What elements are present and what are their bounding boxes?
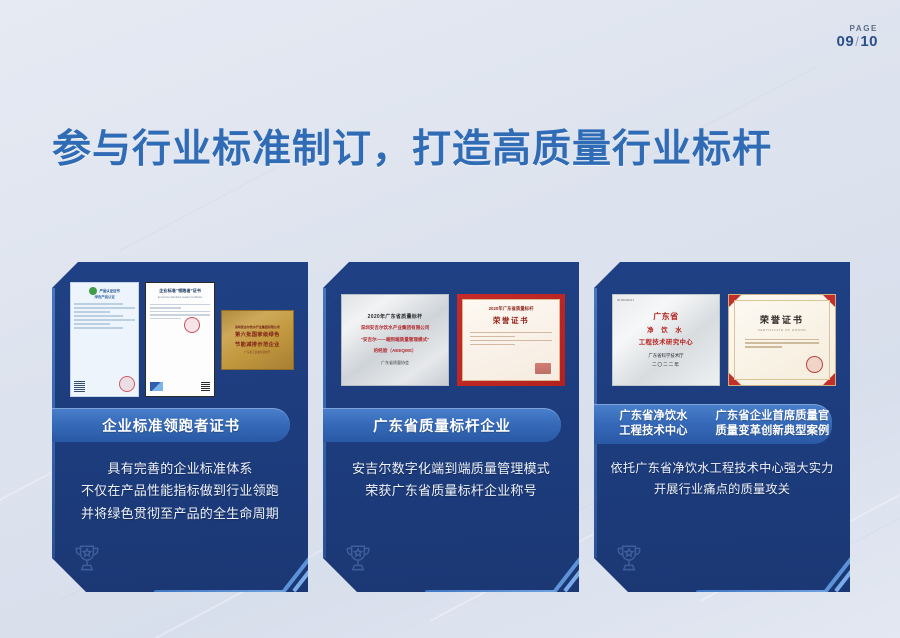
plaque-line-3: 工程技术研究中心 — [639, 337, 693, 346]
slide: PAGE 09/10 参与行业标准制订，打造高质量行业标杆 产品认证证书 绿色产… — [0, 0, 900, 638]
page-number: 09/10 — [837, 33, 879, 50]
plaque-id: ID:20220217 — [617, 298, 634, 302]
card-label-right-line: 质量变革创新典型案例 — [716, 424, 830, 439]
plaque-line-2: 净 饮 水 — [647, 325, 685, 334]
plaque-image-research-center[interactable]: ID:20220217 广东省 净 饮 水 工程技术研究中心 广东省科学技术厅 … — [612, 294, 720, 386]
card-water-purification-research-center[interactable]: ID:20220217 广东省 净 饮 水 工程技术研究中心 广东省科学技术厅 … — [594, 262, 850, 592]
leaf-icon — [89, 287, 97, 295]
certificate-line-1: 荣誉证书 — [760, 313, 804, 326]
trophy-icon — [341, 542, 375, 576]
card-provincial-quality-benchmark[interactable]: 2020年广东省质量标杆 深圳安吉尔饮水产业集团有限公司 “安吉尔——端到端质量… — [323, 262, 579, 592]
card-label: 企业标准领跑者证书 — [52, 408, 290, 442]
certificate-footer — [150, 382, 209, 391]
corner-stripes — [804, 538, 864, 598]
company-logo-icon — [150, 382, 163, 391]
plaque-line-1: 广东省 — [653, 311, 679, 322]
plaque-line-3: 节能减排示范企业 — [235, 341, 280, 348]
red-seal-icon — [806, 356, 823, 373]
page-indicator: PAGE 09/10 — [837, 24, 879, 50]
card-label-row: 广东省质量标杆企业 — [323, 408, 561, 442]
card-label-left: 广东省净饮水 工程技术中心 — [594, 404, 713, 444]
card-label-left-line: 工程技术中心 — [619, 424, 687, 439]
red-seal-icon — [184, 317, 200, 333]
red-seal-icon — [535, 363, 551, 374]
plaque-line-4: 广东省工业和信息化厅 — [244, 350, 270, 354]
certificate-subheading: 绿色产品认证 — [74, 295, 135, 299]
plaque-line-4: 的经验（AEEQMS） — [374, 348, 417, 355]
certificate-gallery: ID:20220217 广东省 净 饮 水 工程技术研究中心 广东省科学技术厅 … — [612, 282, 836, 397]
page-title: 参与行业标准制订，打造高质量行业标杆 — [52, 118, 772, 174]
card-body: 依托广东省净饮水工程技术中心强大实力 开展行业痛点的质量攻关 — [606, 458, 838, 500]
qr-code-icon — [74, 381, 85, 392]
card-body: 具有完善的企业标准体系 不仅在产品性能指标做到行业领跑 并将绿色贯彻至产品的全生… — [64, 458, 296, 525]
trophy-icon — [70, 542, 104, 576]
page-label: PAGE — [837, 24, 879, 33]
plaque-line-1: 深圳安吉尔饮水产业集团有限公司 — [235, 325, 280, 329]
certificate-image-standard-leader[interactable]: 企业标准“领跑者”证书 Enterprise Standard Leader C… — [145, 282, 214, 397]
card-label: 广东省质量标杆企业 — [323, 408, 561, 442]
card-label-row: 企业标准领跑者证书 — [52, 408, 290, 442]
plaque-line-5: 二〇二二年 — [652, 362, 680, 368]
certificate-footer — [74, 374, 135, 392]
card-body-line: 安吉尔数字化端到端质量管理模式 — [335, 458, 567, 480]
plaque-line-4: 广东省科学技术厅 — [648, 353, 683, 359]
plaque-line-3: “安吉尔——端到端质量管理模式” — [361, 337, 430, 344]
certificate-heading: 企业标准“领跑者”证书 — [150, 288, 209, 294]
certificate-text-lines — [470, 332, 552, 346]
certificate-line-1: 2020年广东省质量标杆 — [489, 306, 534, 312]
certificate-image-honor[interactable]: 荣誉证书 CERTIFICATE OF HONOR — [728, 294, 836, 386]
certificate-inner: 2020年广东省质量标杆 荣誉证书 — [462, 299, 560, 381]
corner-stripes — [262, 538, 322, 598]
certificate-text-lines — [745, 339, 819, 348]
card-body-line: 开展行业痛点的质量攻关 — [606, 479, 838, 500]
certificate-header: 产品认证证书 — [74, 287, 135, 295]
card-label-right: 广东省企业首席质量官 质量变革创新典型案例 — [713, 404, 832, 444]
card-body-line: 具有完善的企业标准体系 — [64, 458, 296, 480]
card-label-left-line: 广东省净饮水 — [619, 409, 687, 424]
plaque-line-2: 深圳安吉尔饮水产业集团有限公司 — [361, 325, 430, 332]
card-enterprise-standard-leader[interactable]: 产品认证证书 绿色产品认证 企业标准“领跑者”证书 Enterprise Sta… — [52, 262, 308, 592]
certificate-text-lines — [150, 304, 209, 320]
page-separator: / — [855, 34, 859, 49]
plaque-image-green-enterprise[interactable]: 深圳安吉尔饮水产业集团有限公司 第六批国家级绿色 节能减排示范企业 广东省工业和… — [221, 310, 294, 370]
plaque-line-1: 2020年广东省质量标杆 — [368, 313, 423, 320]
page-current: 09 — [837, 33, 855, 50]
corner-stripes — [533, 538, 593, 598]
certificate-image-product[interactable]: 产品认证证书 绿色产品认证 — [70, 282, 139, 397]
certificate-subheading: Enterprise Standard Leader Certificate — [150, 296, 209, 299]
certificate-heading: 产品认证证书 — [99, 289, 119, 293]
card-body-line: 并将绿色贯彻至产品的全生命周期 — [64, 503, 296, 525]
plaque-image-quality-benchmark[interactable]: 2020年广东省质量标杆 深圳安吉尔饮水产业集团有限公司 “安吉尔——端到端质量… — [341, 294, 449, 386]
qr-code-icon — [201, 382, 210, 391]
page-total: 10 — [860, 33, 878, 50]
card-label-dual: 广东省净饮水 工程技术中心 广东省企业首席质量官 质量变革创新典型案例 — [594, 404, 832, 444]
card-label-right-line: 广东省企业首席质量官 — [716, 409, 830, 424]
certificate-gallery: 2020年广东省质量标杆 深圳安吉尔饮水产业集团有限公司 “安吉尔——端到端质量… — [341, 282, 565, 397]
certificate-line-2: 荣誉证书 — [493, 315, 529, 326]
certificate-image-red-honor[interactable]: 2020年广东省质量标杆 荣誉证书 — [457, 294, 565, 386]
plaque-line-5: 广东省质量协会 — [381, 360, 409, 366]
card-body-line: 依托广东省净饮水工程技术中心强大实力 — [606, 458, 838, 479]
certificate-text-lines — [74, 303, 135, 374]
card-label-row: 广东省净饮水 工程技术中心 广东省企业首席质量官 质量变革创新典型案例 — [594, 404, 832, 444]
card-body: 安吉尔数字化端到端质量管理模式 荣获广东省质量标杆企业称号 — [335, 458, 567, 503]
card-list: 产品认证证书 绿色产品认证 企业标准“领跑者”证书 Enterprise Sta… — [52, 262, 852, 592]
card-body-line: 荣获广东省质量标杆企业称号 — [335, 480, 567, 502]
plaque-line-2: 第六批国家级绿色 — [235, 331, 280, 338]
trophy-icon — [612, 542, 646, 576]
card-body-line: 不仅在产品性能指标做到行业领跑 — [64, 480, 296, 502]
certificate-gallery: 产品认证证书 绿色产品认证 企业标准“领跑者”证书 Enterprise Sta… — [70, 282, 294, 397]
certificate-line-2: CERTIFICATE OF HONOR — [758, 328, 806, 332]
red-seal-icon — [119, 376, 135, 392]
